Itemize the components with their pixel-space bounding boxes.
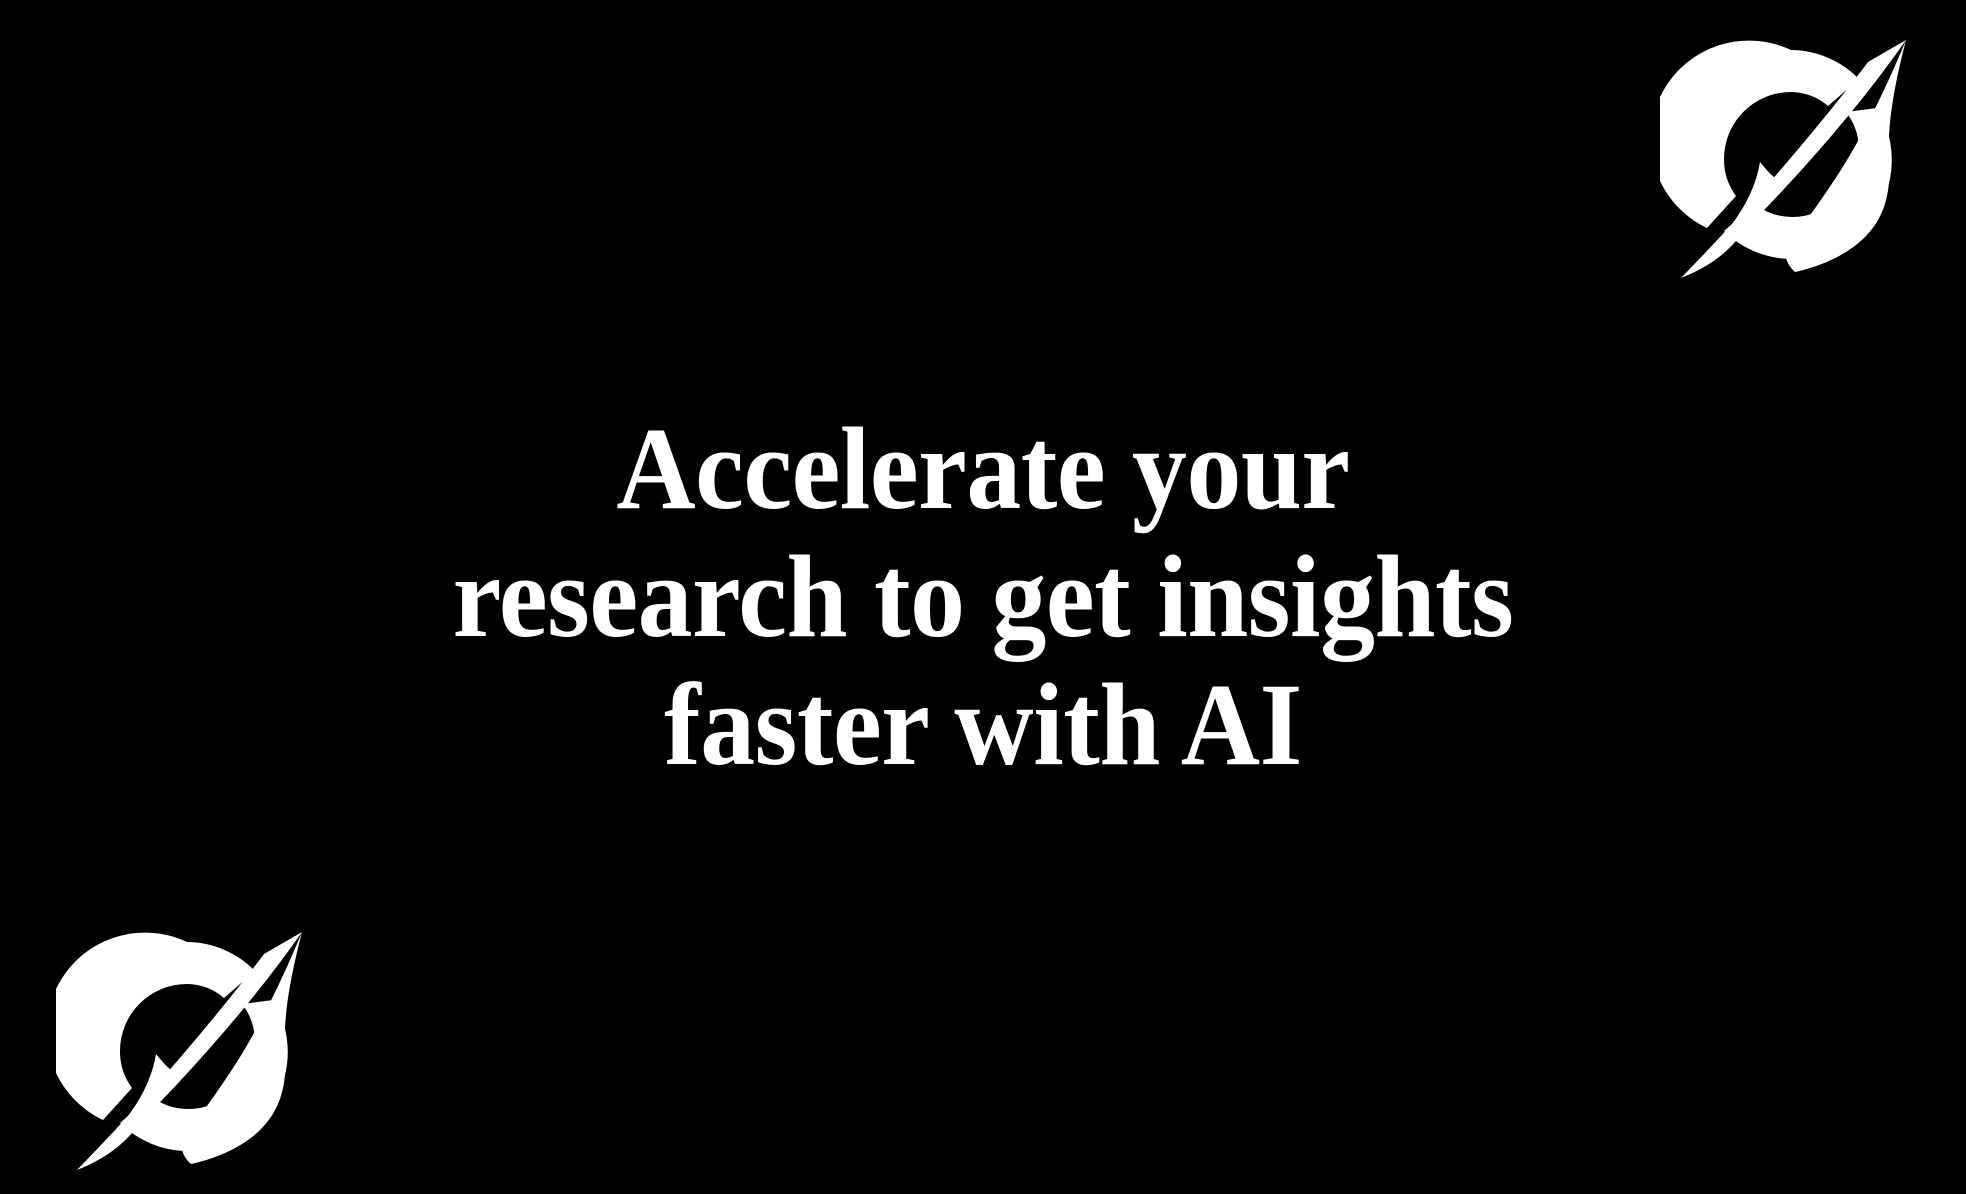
headline-line-3: faster with AI: [258, 661, 1709, 789]
headline-line-2: research to get insights: [258, 533, 1709, 661]
headline-line-1: Accelerate your: [258, 405, 1709, 533]
slide-canvas: Accelerate your research to get insights…: [0, 0, 1966, 1194]
page-title: Accelerate your research to get insights…: [258, 405, 1709, 789]
slashed-circle-logo-icon-top-right: [1660, 28, 1924, 278]
slashed-circle-logo-icon-bottom-left: [56, 920, 320, 1170]
